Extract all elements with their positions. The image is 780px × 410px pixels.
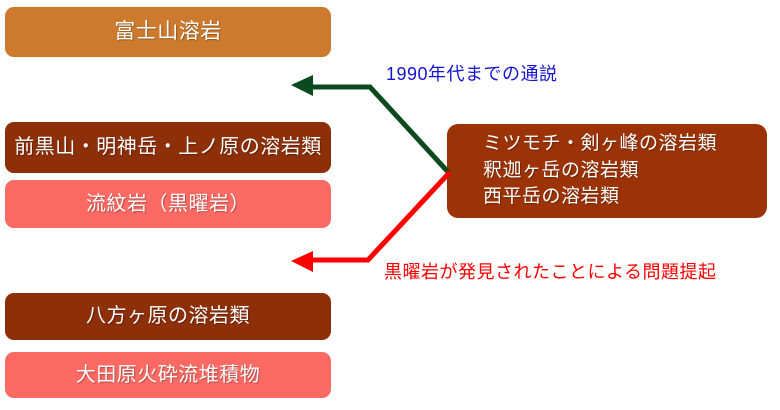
- unit-box-rhyolite-obsidian[interactable]: 流紋岩（黒曜岩）: [5, 180, 331, 228]
- unit-box-new-lava-units[interactable]: ミツモチ・剣ヶ峰の溶岩類 釈迦ヶ岳の溶岩類 西平岳の溶岩類: [447, 124, 767, 218]
- unit-line-shakagatake: 釈迦ヶ岳の溶岩類: [483, 158, 639, 185]
- annotation-old-theory: 1990年代までの通説: [386, 60, 558, 86]
- unit-line-mitsumochi-kengamine: ミツモチ・剣ヶ峰の溶岩類: [483, 131, 717, 158]
- unit-label: 富士山溶岩: [114, 20, 222, 44]
- diagram-canvas: 富士山溶岩 前黒山・明神岳・上ノ原の溶岩類 流紋岩（黒曜岩） 八方ヶ原の溶岩類 …: [0, 0, 780, 410]
- unit-label: 前黒山・明神岳・上ノ原の溶岩類: [14, 136, 322, 159]
- annotation-new-problem: 黒曜岩が発見されたことによる問題提起: [384, 258, 716, 284]
- unit-box-fujisan-lava[interactable]: 富士山溶岩: [5, 7, 331, 57]
- unit-label: 八方ヶ原の溶岩類: [86, 305, 250, 328]
- unit-label: 流紋岩（黒曜岩）: [86, 193, 250, 216]
- unit-label: 大田原火砕流堆積物: [76, 364, 261, 387]
- old-theory-arrow-head: [291, 75, 313, 96]
- unit-line-nishihiradake: 西平岳の溶岩類: [483, 184, 620, 211]
- unit-box-ohtawara-pyroclastic-flow-deposit[interactable]: 大田原火砕流堆積物: [5, 352, 331, 398]
- new-problem-arrow-head: [291, 251, 313, 272]
- unit-box-maekuroyama-myojindake-uwanohara-lavas[interactable]: 前黒山・明神岳・上ノ原の溶岩類: [5, 122, 331, 173]
- unit-box-happogahara-lavas[interactable]: 八方ヶ原の溶岩類: [5, 293, 331, 340]
